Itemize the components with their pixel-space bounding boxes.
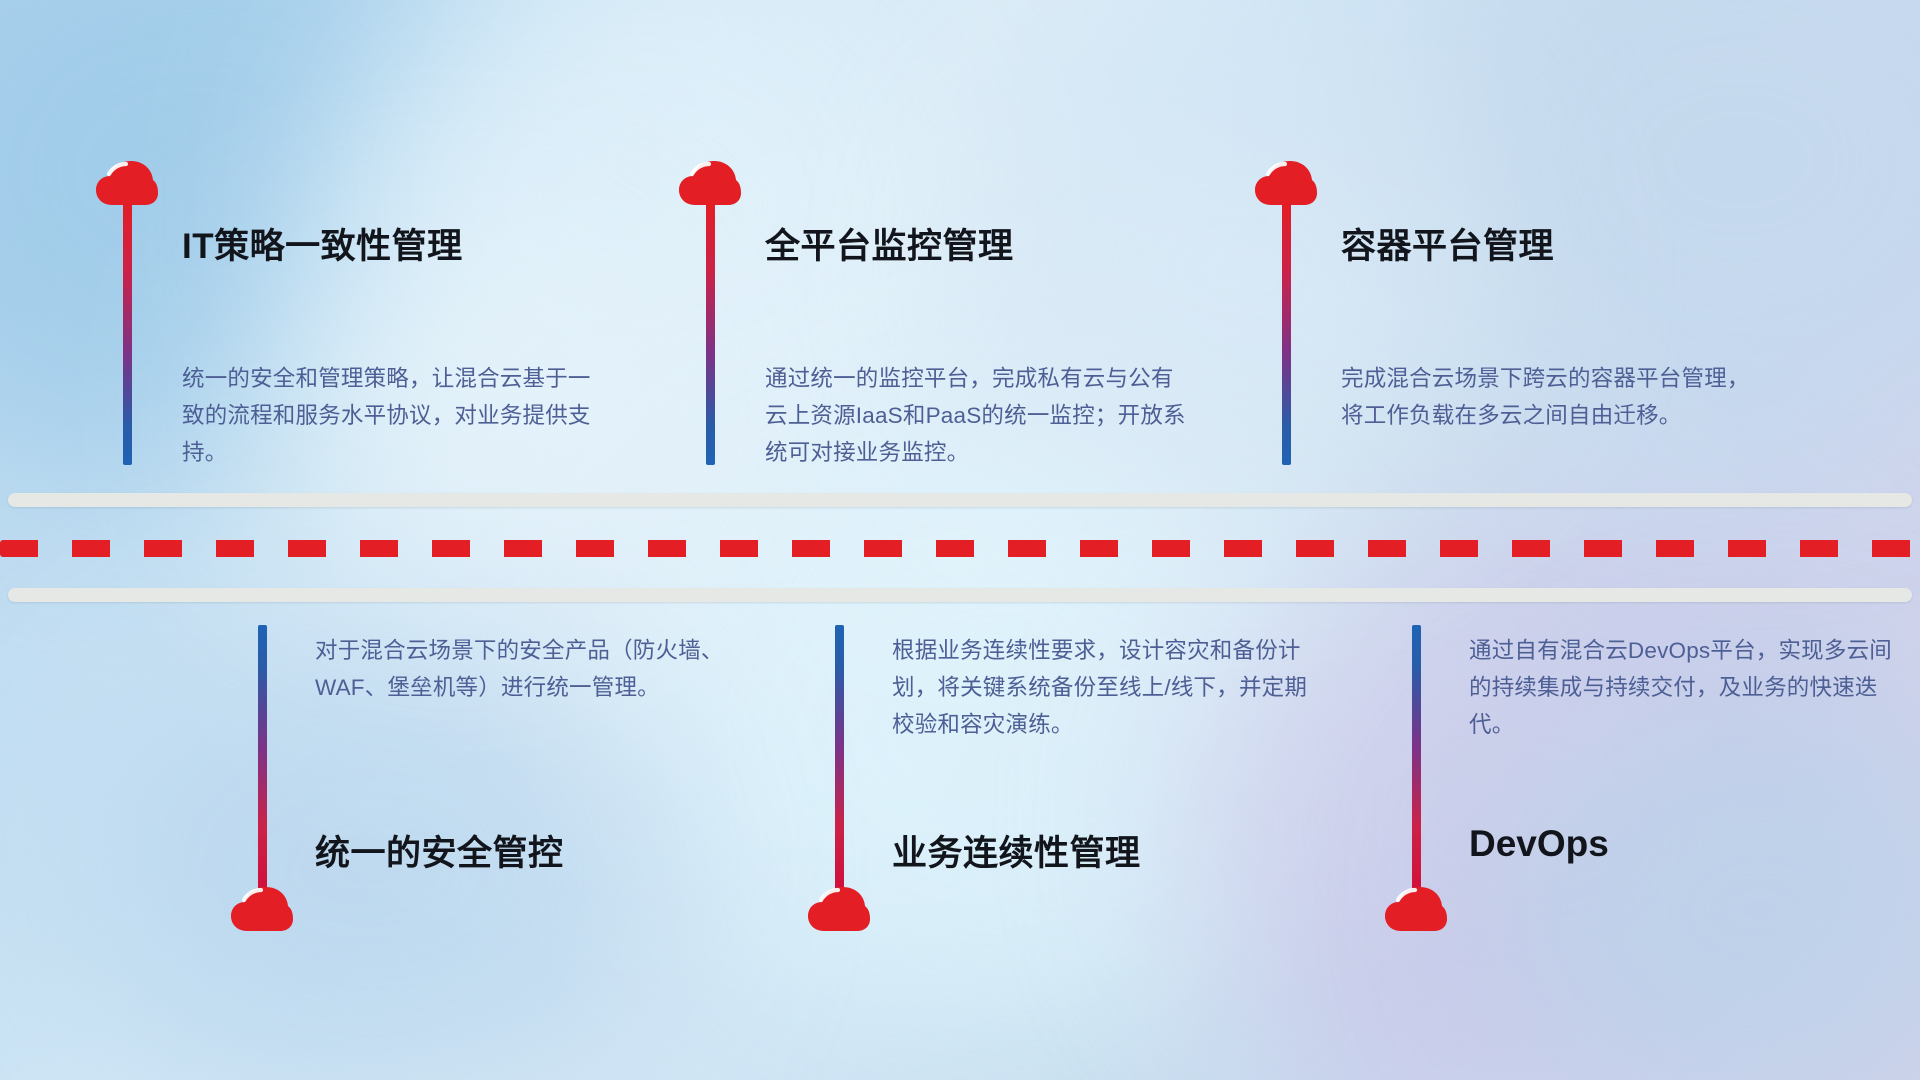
top-column-2-body: 通过统一的监控平台，完成私有云与公有云上资源IaaS和PaaS的统一监控；开放系… [765, 360, 1195, 471]
bottom-column-3-body: 通过自有混合云DevOps平台，实现多云间的持续集成与持续交付，及业务的快速迭代… [1469, 632, 1899, 743]
top-column-1-title: IT策略一致性管理 [182, 218, 463, 269]
bottom-column-1-body: 对于混合云场景下的安全产品（防火墙、WAF、堡垒机等）进行统一管理。 [315, 632, 745, 706]
top-column-1-body: 统一的安全和管理策略，让混合云基于一致的流程和服务水平协议，对业务提供支持。 [182, 360, 612, 471]
cloud-icon [1254, 160, 1318, 206]
cloud-icon [1384, 886, 1448, 932]
timeline-stem [123, 203, 132, 465]
timeline-stem [1282, 203, 1291, 465]
infographic-canvas: IT策略一致性管理 统一的安全和管理策略，让混合云基于一致的流程和服务水平协议，… [0, 0, 1920, 1080]
bottom-column-2-body: 根据业务连续性要求，设计容灾和备份计划，将关键系统备份至线上/线下，并定期校验和… [892, 632, 1322, 743]
bottom-column-1-title: 统一的安全管控 [315, 825, 564, 876]
timeline-stem [706, 203, 715, 465]
cloud-icon [807, 886, 871, 932]
bottom-column-3-title: DevOps [1469, 823, 1609, 865]
timeline-stem [258, 625, 267, 890]
cloud-icon [95, 160, 159, 206]
cloud-icon [678, 160, 742, 206]
divider-dashed-line [0, 540, 1920, 557]
top-column-3-title: 容器平台管理 [1341, 218, 1554, 269]
top-column-2-title: 全平台监控管理 [765, 218, 1014, 269]
top-column-3-body: 完成混合云场景下跨云的容器平台管理，将工作负载在多云之间自由迁移。 [1341, 360, 1771, 434]
timeline-stem [835, 625, 844, 890]
divider-rail-bottom [8, 588, 1912, 602]
cloud-icon [230, 886, 294, 932]
bottom-column-2-title: 业务连续性管理 [892, 825, 1141, 876]
timeline-stem [1412, 625, 1421, 890]
divider-rail-top [8, 493, 1912, 507]
